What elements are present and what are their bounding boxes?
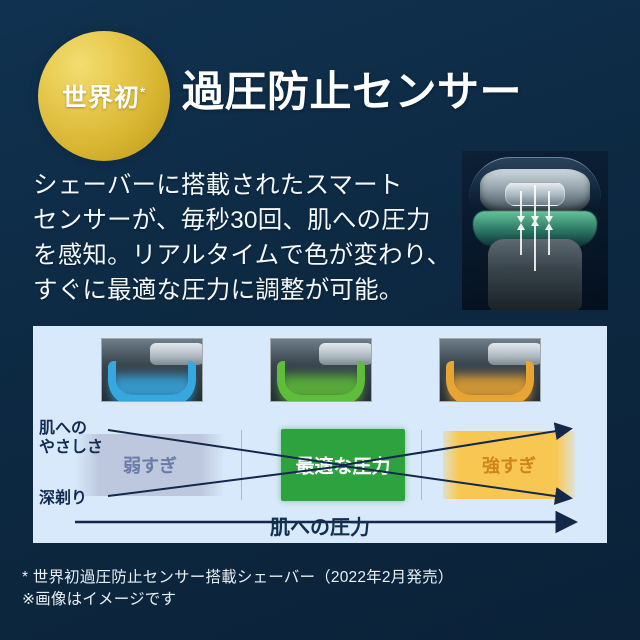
zone-too-strong-label: 強すぎ <box>443 452 575 478</box>
pressure-arrow-down-left <box>520 191 522 217</box>
thumbnail-blue-photo <box>102 339 202 401</box>
zone-divider-right <box>421 430 422 500</box>
pressure-arrow-down-right <box>548 191 550 217</box>
footnote-line-1: * 世界初過圧防止センサー搭載シェーバー（2022年2月発売） <box>22 567 622 589</box>
axis-caption-pressure: 肌への圧力 <box>33 511 607 540</box>
thumbnail-green-light <box>270 338 372 402</box>
promo-page: 世界初* 過圧防止センサー シェーバーに搭載されたスマート センサーが、毎秒30… <box>0 0 640 640</box>
axis-label-gentleness: 肌への やさしさ <box>39 419 103 457</box>
body-copy-line-4: すぐに最適な圧力に調整が可能。 <box>33 273 453 308</box>
pressure-arrow-up-left <box>520 229 522 255</box>
thumbnail-orange-photo <box>440 339 540 401</box>
pressure-diagram-panel: 弱すぎ 最適な圧力 強すぎ 肌への やさしさ 深剃り <box>33 326 607 543</box>
thumbnail-green-photo <box>271 339 371 401</box>
page-title: 過圧防止センサー <box>182 58 522 119</box>
body-copy-line-3: を感知。リアルタイムで色が変わり、 <box>33 238 453 273</box>
axis-label-gentleness-line2: やさしさ <box>39 438 103 457</box>
badge-asterisk: * <box>140 85 146 100</box>
axis-label-close-shave-text: 深剃り <box>39 489 87 508</box>
thumbnail-green-glow <box>281 375 361 401</box>
body-copy-line-1: シェーバーに搭載されたスマート <box>33 168 453 203</box>
hero-product-image <box>462 151 608 310</box>
zone-too-strong: 強すぎ <box>443 431 575 499</box>
footnote-line-2: ※画像はイメージです <box>22 589 622 611</box>
axis-label-close-shave: 深剃り <box>39 489 87 508</box>
footnotes: * 世界初過圧防止センサー搭載シェーバー（2022年2月発売） ※画像はイメージ… <box>22 567 622 611</box>
badge-label: 世界初* <box>62 78 146 114</box>
badge-text: 世界初 <box>62 84 140 112</box>
zone-optimal-label: 最適な圧力 <box>281 452 405 479</box>
pressure-arrow-up-right <box>548 229 550 255</box>
body-copy: シェーバーに搭載されたスマート センサーが、毎秒30回、肌への圧力 を感知。リア… <box>33 168 453 308</box>
thumbnail-blue-light <box>101 338 203 402</box>
zone-divider-left <box>241 430 242 500</box>
thumbnail-orange-light <box>439 338 541 402</box>
pressure-arrow-down-center <box>534 185 536 217</box>
thumbnail-orange-glow <box>450 375 530 401</box>
thumbnail-blue-glow <box>112 375 192 401</box>
world-first-badge: 世界初* <box>38 31 170 161</box>
axis-label-gentleness-line1: 肌への <box>39 419 103 438</box>
zone-optimal: 最適な圧力 <box>281 429 405 501</box>
body-copy-line-2: センサーが、毎秒30回、肌への圧力 <box>33 203 453 238</box>
pressure-arrow-up-center <box>534 225 536 271</box>
